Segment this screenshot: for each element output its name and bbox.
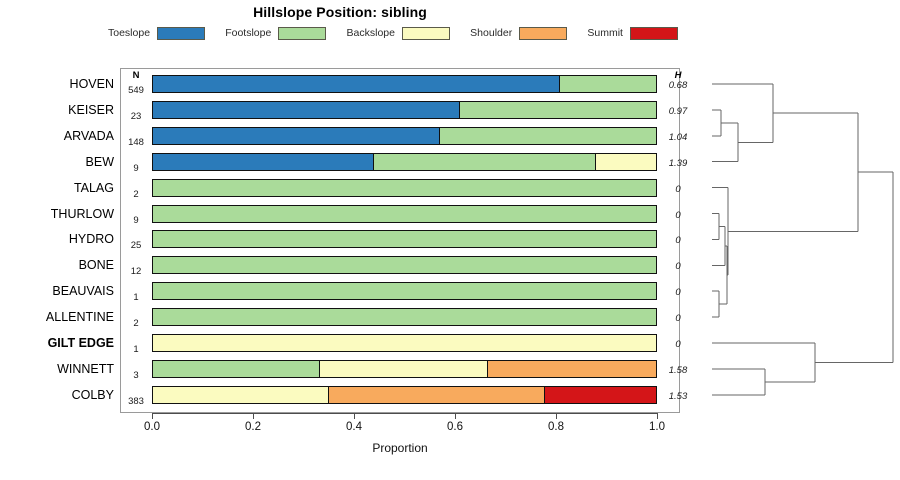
x-tick-label: 0.2 xyxy=(233,421,273,433)
n-column-header: N xyxy=(120,70,152,81)
legend-swatch-summit xyxy=(630,27,678,40)
x-tick xyxy=(354,413,355,419)
category-label-thurlow: THURLOW xyxy=(51,207,114,221)
x-tick xyxy=(455,413,456,419)
page-title: Hillslope Position: sibling xyxy=(0,4,680,20)
n-value: 3 xyxy=(120,370,152,381)
legend-entry-footslope: Footslope xyxy=(225,27,326,40)
x-axis-title: Proportion xyxy=(120,441,680,455)
x-tick xyxy=(556,413,557,419)
category-label-bone: BONE xyxy=(79,258,114,272)
category-label-talag: TALAG xyxy=(74,181,114,195)
n-value: 549 xyxy=(120,85,152,96)
x-tick xyxy=(253,413,254,419)
x-tick-label: 0.8 xyxy=(536,421,576,433)
category-label-keiser: KEISER xyxy=(68,103,114,117)
category-label-arvada: ARVADA xyxy=(64,129,114,143)
n-value: 1 xyxy=(120,344,152,355)
n-value: 1 xyxy=(120,292,152,303)
legend-swatch-toeslope xyxy=(157,27,205,40)
n-value: 9 xyxy=(120,163,152,174)
legend-swatch-footslope xyxy=(278,27,326,40)
legend-entry-summit: Summit xyxy=(587,27,678,40)
x-tick-label: 1.0 xyxy=(637,421,677,433)
n-value: 23 xyxy=(120,111,152,122)
legend-swatch-backslope xyxy=(402,27,450,40)
legend-entry-toeslope: Toeslope xyxy=(108,27,205,40)
x-tick xyxy=(657,413,658,419)
legend-label: Footslope xyxy=(225,27,271,39)
x-tick-label: 0.0 xyxy=(132,421,172,433)
category-label-gilt-edge: GILT EDGE xyxy=(48,336,114,350)
category-label-allentine: ALLENTINE xyxy=(46,310,114,324)
legend-swatch-shoulder xyxy=(519,27,567,40)
x-axis-line xyxy=(152,413,657,414)
x-tick xyxy=(152,413,153,419)
category-label-winnett: WINNETT xyxy=(57,362,114,376)
legend-entry-backslope: Backslope xyxy=(347,27,450,40)
n-value: 2 xyxy=(120,318,152,329)
x-axis: Proportion 0.00.20.40.60.81.0 xyxy=(120,413,680,457)
category-label-beauvais: BEAUVAIS xyxy=(52,284,114,298)
legend-label: Shoulder xyxy=(470,27,512,39)
legend-label: Summit xyxy=(587,27,623,39)
n-value: 12 xyxy=(120,266,152,277)
n-value: 2 xyxy=(120,189,152,200)
x-tick-label: 0.6 xyxy=(435,421,475,433)
legend-label: Backslope xyxy=(347,27,395,39)
category-axis-labels: HOVENKEISERARVADABEWTALAGTHURLOWHYDROBON… xyxy=(0,68,118,413)
category-label-bew: BEW xyxy=(86,155,114,169)
chart-root: Hillslope Position: sibling ToeslopeFoot… xyxy=(0,0,900,480)
n-value: 148 xyxy=(120,137,152,148)
category-label-colby: COLBY xyxy=(72,388,114,402)
x-tick-label: 0.4 xyxy=(334,421,374,433)
legend-label: Toeslope xyxy=(108,27,150,39)
dendrogram xyxy=(690,60,900,420)
category-label-hydro: HYDRO xyxy=(69,232,114,246)
plot-area xyxy=(120,68,680,413)
legend: ToeslopeFootslopeBackslopeShoulderSummit xyxy=(108,24,678,42)
n-value: 9 xyxy=(120,215,152,226)
n-value: 383 xyxy=(120,396,152,407)
n-column: N 5492314892925121213383 xyxy=(120,68,152,413)
n-value: 25 xyxy=(120,240,152,251)
legend-entry-shoulder: Shoulder xyxy=(470,27,567,40)
category-label-hoven: HOVEN xyxy=(70,77,114,91)
